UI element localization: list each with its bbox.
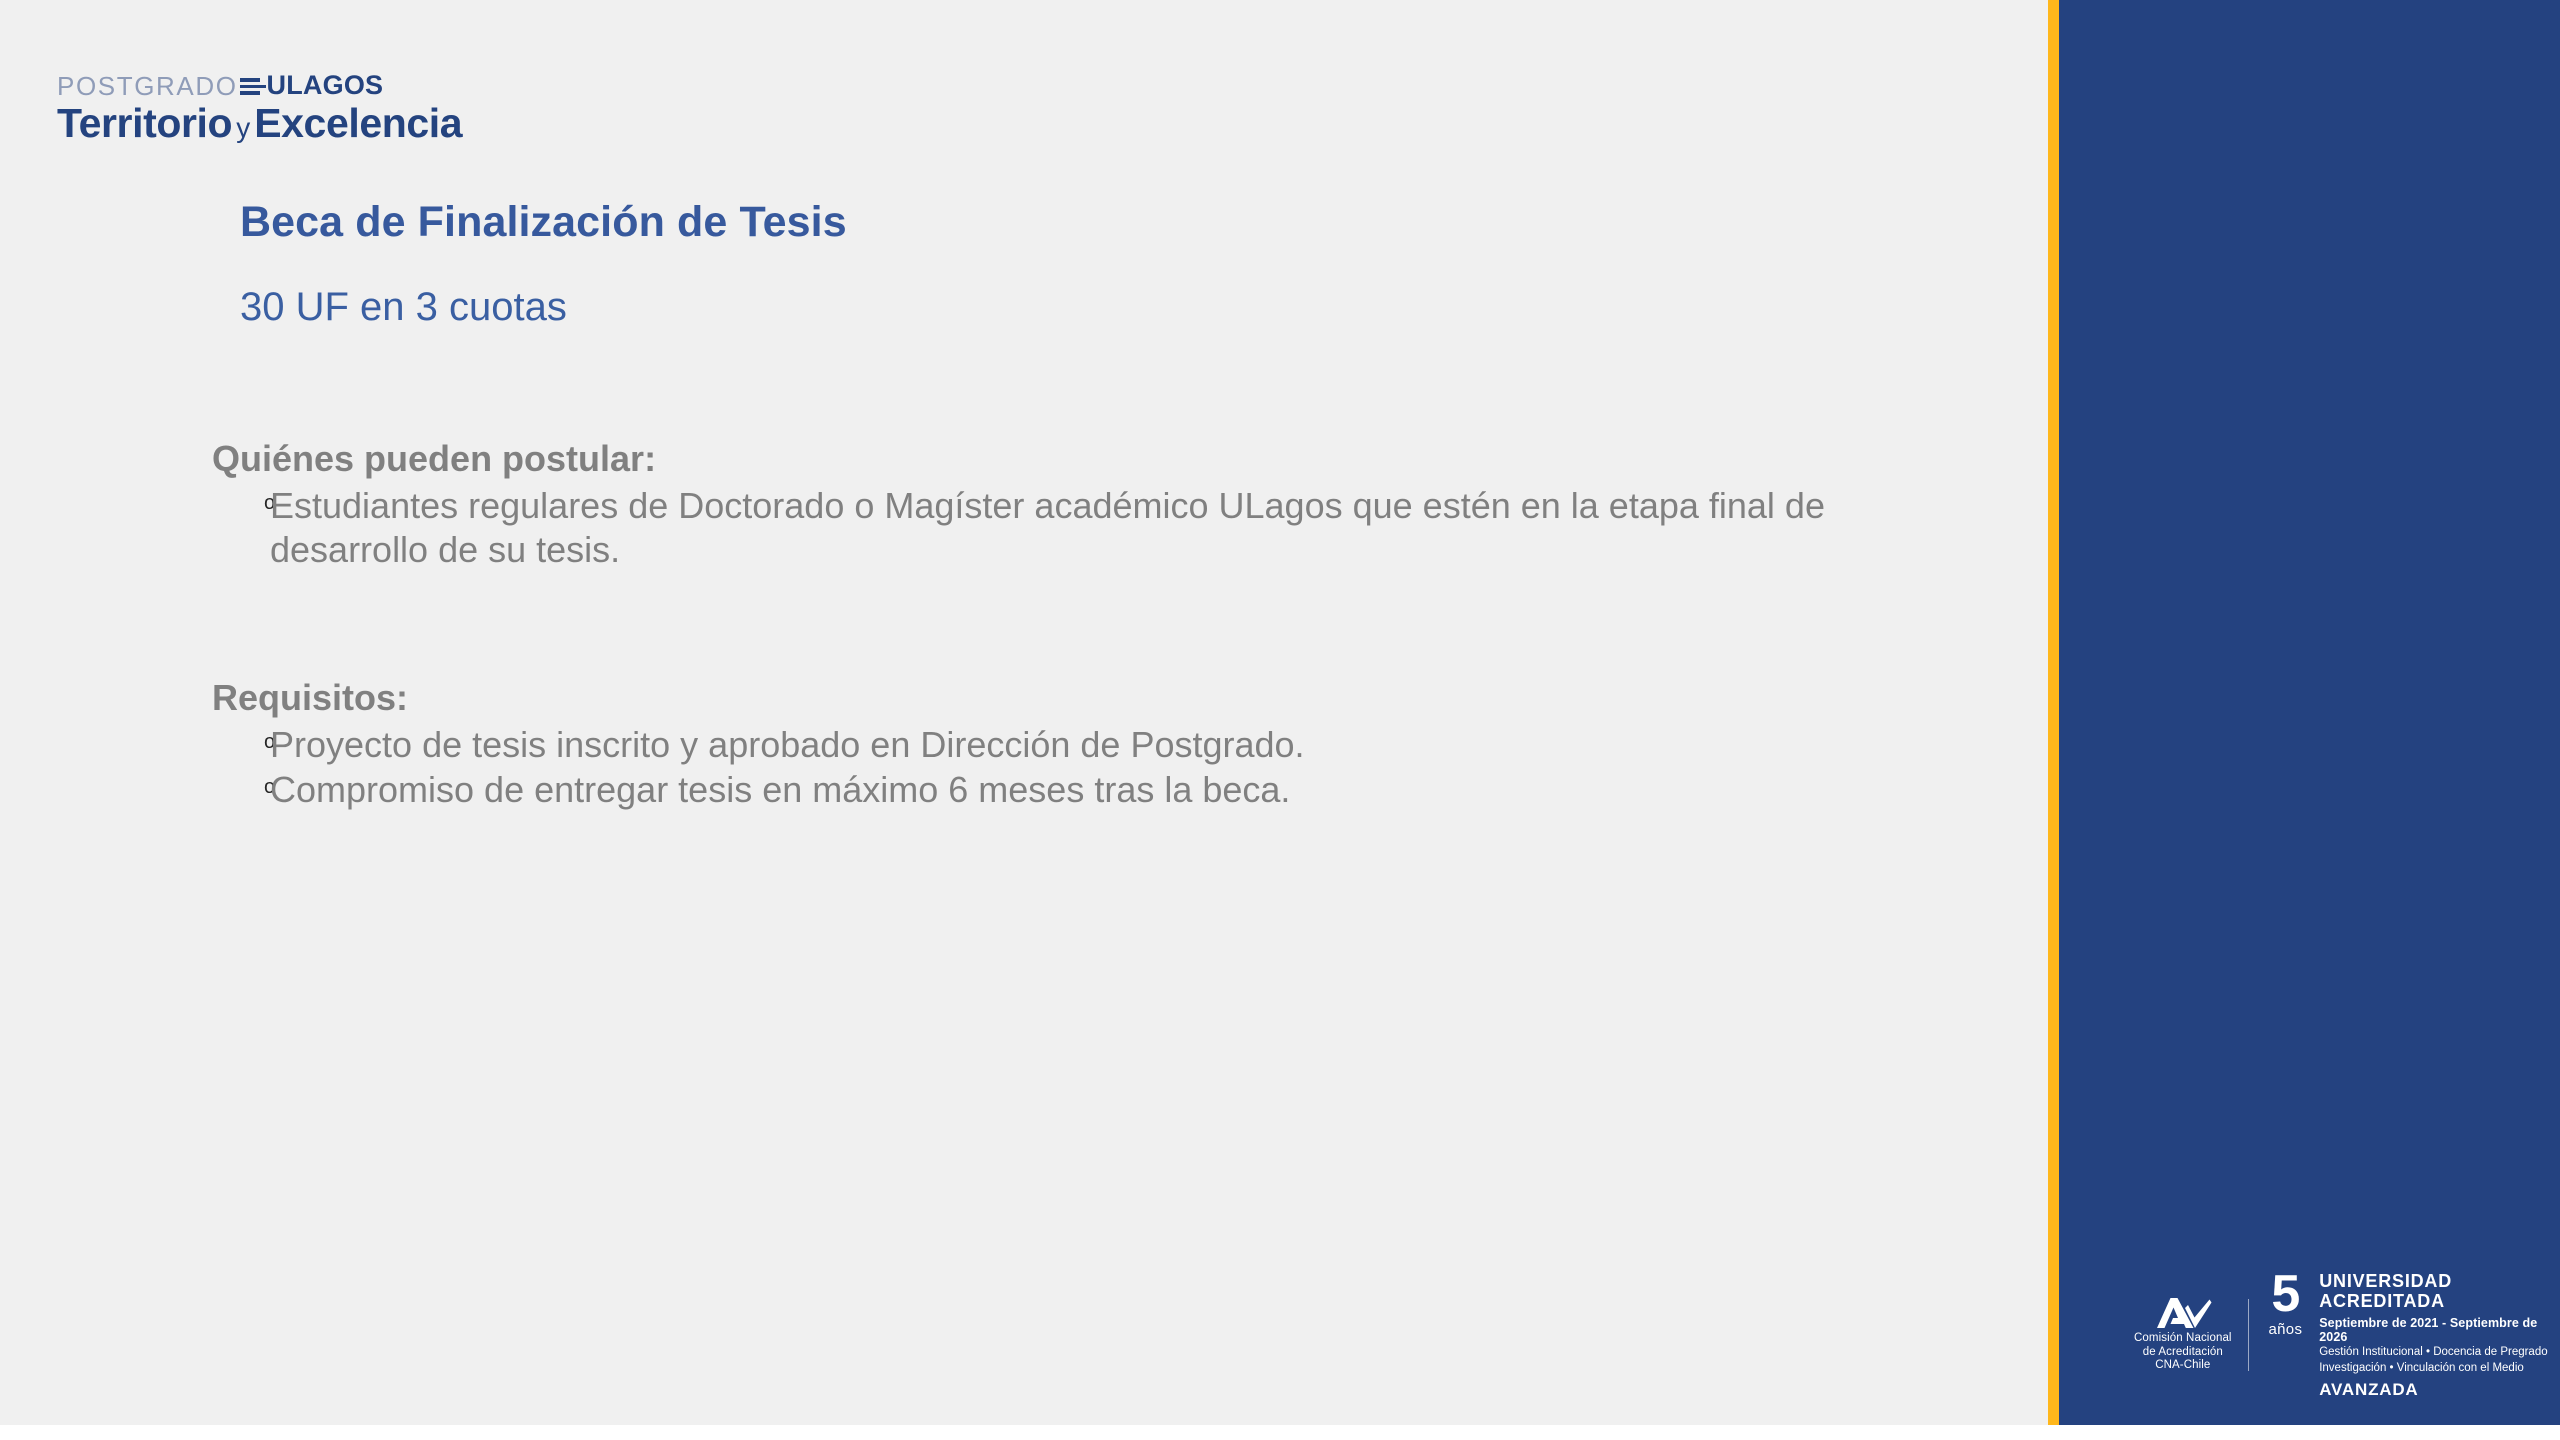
brand-logo-top-line: POSTGRADO ULAGOS	[57, 72, 757, 99]
badge-dates: Septiembre de 2021 - Septiembre de 2026	[2319, 1316, 2560, 1345]
cna-a-check-icon	[2152, 1297, 2214, 1329]
list-item-text: Estudiantes regulares de Doctorado o Mag…	[270, 484, 1830, 572]
section-requisitos: Requisitos: o Proyecto de tesis inscrito…	[212, 676, 1912, 813]
cna-line-3: CNA-Chile	[2134, 1359, 2232, 1373]
badge-content: 5 años UNIVERSIDAD ACREDITADA Septiembre…	[2263, 1272, 2560, 1398]
blue-sidebar-panel	[2059, 0, 2560, 1425]
brand-tagline-territorio: Territorio	[57, 100, 232, 146]
badge-areas-line-2: Investigación • Vinculación con el Medio	[2319, 1361, 2560, 1376]
cna-line-2: de Acreditación	[2134, 1346, 2232, 1360]
presentation-slide: POSTGRADO ULAGOS TerritorioyExcelencia B…	[0, 0, 2560, 1440]
triple-bar-icon	[240, 77, 266, 96]
cna-logo: Comisión Nacional de Acreditación CNA-Ch…	[2126, 1297, 2240, 1373]
section-heading: Quiénes pueden postular:	[212, 437, 1912, 481]
brand-tagline: TerritorioyExcelencia	[57, 103, 757, 144]
section-quienes-pueden-postular: Quiénes pueden postular: o Estudiantes r…	[212, 437, 1912, 573]
badge-accreditation-level: AVANZADA	[2319, 1381, 2560, 1398]
brand-tagline-conjunction: y	[232, 112, 254, 143]
page-title: Beca de Finalización de Tesis	[240, 198, 847, 247]
bullet-list: o Estudiantes regulares de Doctorado o M…	[212, 484, 1912, 572]
circle-bullet-icon: o	[212, 768, 270, 807]
brand-tagline-excelencia: Excelencia	[254, 100, 462, 146]
cna-logo-text: Comisión Nacional de Acreditación CNA-Ch…	[2134, 1332, 2232, 1373]
brand-postgrado-text: POSTGRADO	[57, 73, 238, 99]
list-item: o Compromiso de entregar tesis en máximo…	[212, 768, 1912, 812]
badge-divider	[2248, 1299, 2249, 1371]
page-subtitle: 30 UF en 3 cuotas	[240, 285, 567, 330]
badge-years-number: 5	[2271, 1272, 2299, 1318]
list-item: o Estudiantes regulares de Doctorado o M…	[212, 484, 1912, 572]
bullet-list: o Proyecto de tesis inscrito y aprobado …	[212, 723, 1912, 812]
list-item-text: Proyecto de tesis inscrito y aprobado en…	[270, 723, 1830, 767]
accreditation-badge: Comisión Nacional de Acreditación CNA-Ch…	[2126, 1272, 2560, 1398]
badge-years: 5 años	[2263, 1272, 2309, 1398]
badge-title: UNIVERSIDAD ACREDITADA	[2319, 1272, 2560, 1312]
circle-bullet-icon: o	[212, 723, 270, 762]
list-item: o Proyecto de tesis inscrito y aprobado …	[212, 723, 1912, 767]
brand-logo: POSTGRADO ULAGOS TerritorioyExcelencia	[57, 72, 757, 144]
bottom-white-margin	[0, 1425, 2560, 1440]
list-item-text: Compromiso de entregar tesis en máximo 6…	[270, 768, 1830, 812]
yellow-accent-stripe	[2048, 0, 2059, 1425]
badge-years-label: años	[2269, 1322, 2303, 1337]
cna-line-1: Comisión Nacional	[2134, 1332, 2232, 1346]
brand-ulagos-text: ULAGOS	[267, 72, 384, 99]
circle-bullet-icon: o	[212, 484, 270, 523]
badge-areas-line-1: Gestión Institucional • Docencia de Preg…	[2319, 1345, 2560, 1360]
badge-details: UNIVERSIDAD ACREDITADA Septiembre de 202…	[2319, 1272, 2560, 1398]
section-heading: Requisitos:	[212, 676, 1912, 720]
